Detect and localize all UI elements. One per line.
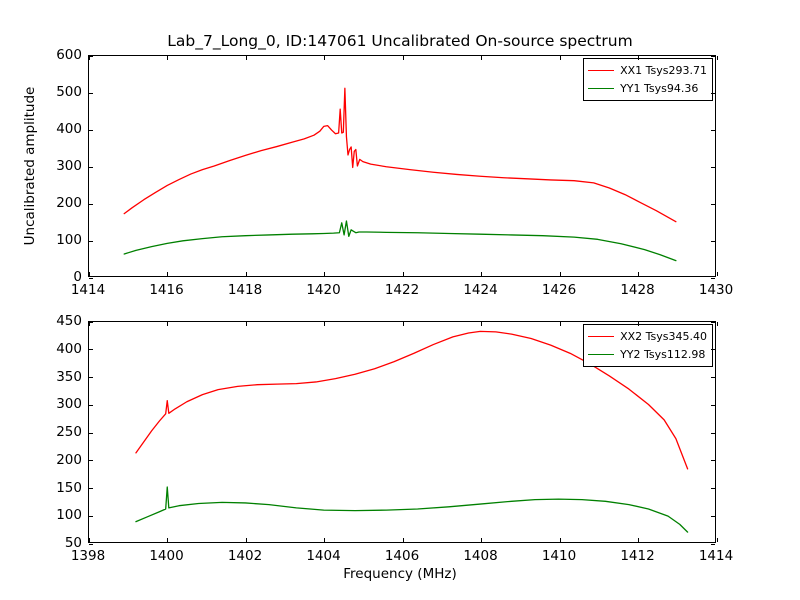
y-tick bbox=[89, 56, 93, 57]
y-tick bbox=[89, 377, 93, 378]
x-tick bbox=[89, 538, 90, 542]
x-tick bbox=[246, 538, 247, 542]
x-tick-label: 1406 bbox=[385, 548, 419, 564]
legend-label: XX2 Tsys345.40 bbox=[620, 331, 707, 342]
x-tick-label: 1426 bbox=[542, 282, 576, 298]
y-tick bbox=[89, 349, 93, 350]
y-tick-label: 600 bbox=[40, 47, 82, 63]
x-tick-label: 1418 bbox=[228, 282, 262, 298]
x-tick-label: 1412 bbox=[620, 548, 654, 564]
y-tick-label: 400 bbox=[40, 341, 82, 357]
y-tick-label: 100 bbox=[40, 507, 82, 523]
x-tick bbox=[89, 272, 90, 276]
y-tick bbox=[89, 93, 93, 94]
y-tick-label: 150 bbox=[40, 480, 82, 496]
legend-line-icon bbox=[588, 336, 614, 337]
top-panel-axes: XX1 Tsys293.71YY1 Tsys94.36 bbox=[88, 55, 716, 277]
x-tick-top bbox=[89, 56, 90, 60]
legend-line-icon bbox=[588, 354, 614, 355]
y-tick-right bbox=[711, 349, 715, 350]
bottom-panel-legend: XX2 Tsys345.40YY2 Tsys112.98 bbox=[583, 324, 713, 367]
y-tick-label: 250 bbox=[40, 424, 82, 440]
x-tick bbox=[246, 272, 247, 276]
y-tick-label: 500 bbox=[40, 84, 82, 100]
y-tick-right bbox=[711, 278, 715, 279]
legend-item: YY1 Tsys94.36 bbox=[588, 81, 707, 96]
legend-item: XX2 Tsys345.40 bbox=[588, 329, 707, 344]
y-tick bbox=[89, 488, 93, 489]
y-tick-right bbox=[711, 93, 715, 94]
y-tick bbox=[89, 130, 93, 131]
x-tick-top bbox=[324, 56, 325, 60]
x-tick bbox=[560, 272, 561, 276]
x-tick bbox=[481, 538, 482, 542]
y-tick-label: 100 bbox=[40, 232, 82, 248]
y-tick-label: 300 bbox=[40, 396, 82, 412]
y-tick bbox=[89, 322, 93, 323]
bottom-panel-axes: XX2 Tsys345.40YY2 Tsys112.98 bbox=[88, 321, 716, 543]
series-line bbox=[124, 221, 676, 261]
x-tick bbox=[403, 272, 404, 276]
x-tick-top bbox=[246, 322, 247, 326]
y-tick-right bbox=[711, 544, 715, 545]
y-tick bbox=[89, 204, 93, 205]
y-tick bbox=[89, 167, 93, 168]
y-tick bbox=[89, 433, 93, 434]
x-tick-top bbox=[717, 322, 718, 326]
y-tick-right bbox=[711, 377, 715, 378]
x-tick-top bbox=[246, 56, 247, 60]
y-tick bbox=[89, 405, 93, 406]
y-tick-right bbox=[711, 241, 715, 242]
x-tick-top bbox=[481, 322, 482, 326]
y-tick bbox=[89, 460, 93, 461]
y-tick-label: 200 bbox=[40, 452, 82, 468]
x-tick bbox=[717, 272, 718, 276]
y-tick-right bbox=[711, 56, 715, 57]
legend-label: YY2 Tsys112.98 bbox=[620, 349, 705, 360]
top-panel-legend: XX1 Tsys293.71YY1 Tsys94.36 bbox=[583, 58, 713, 101]
x-tick-label: 1424 bbox=[463, 282, 497, 298]
x-tick-top bbox=[717, 56, 718, 60]
y-tick-right bbox=[711, 167, 715, 168]
y-tick bbox=[89, 516, 93, 517]
y-tick-right bbox=[711, 405, 715, 406]
x-tick bbox=[717, 538, 718, 542]
x-tick-top bbox=[167, 56, 168, 60]
y-axis-label: Uncalibrated amplitude bbox=[22, 55, 38, 277]
y-tick-right bbox=[711, 204, 715, 205]
legend-item: XX1 Tsys293.71 bbox=[588, 63, 707, 78]
legend-line-icon bbox=[588, 88, 614, 89]
x-tick bbox=[167, 538, 168, 542]
x-tick-label: 1410 bbox=[542, 548, 576, 564]
legend-line-icon bbox=[588, 70, 614, 71]
y-tick bbox=[89, 278, 93, 279]
y-tick bbox=[89, 241, 93, 242]
y-tick-right bbox=[711, 130, 715, 131]
x-tick-label: 1400 bbox=[149, 548, 183, 564]
legend-item: YY2 Tsys112.98 bbox=[588, 347, 707, 362]
x-tick bbox=[481, 272, 482, 276]
x-tick-top bbox=[560, 322, 561, 326]
y-tick-label: 350 bbox=[40, 369, 82, 385]
y-tick-label: 450 bbox=[40, 313, 82, 329]
y-tick-label: 200 bbox=[40, 195, 82, 211]
x-tick-label: 1430 bbox=[699, 282, 733, 298]
x-tick-top bbox=[638, 56, 639, 60]
y-tick-label: 300 bbox=[40, 158, 82, 174]
legend-label: YY1 Tsys94.36 bbox=[620, 83, 698, 94]
y-tick-right bbox=[711, 460, 715, 461]
y-tick-label: 0 bbox=[40, 269, 82, 285]
x-tick-label: 1416 bbox=[149, 282, 183, 298]
y-tick-label: 400 bbox=[40, 121, 82, 137]
legend-label: XX1 Tsys293.71 bbox=[620, 65, 707, 76]
series-line bbox=[124, 88, 676, 221]
x-tick-label: 1414 bbox=[699, 548, 733, 564]
x-tick-label: 1408 bbox=[463, 548, 497, 564]
spectrum-figure: Lab_7_Long_0, ID:147061 Uncalibrated On-… bbox=[0, 0, 800, 600]
x-tick-top bbox=[638, 322, 639, 326]
x-tick-label: 1404 bbox=[306, 548, 340, 564]
x-tick-label: 1428 bbox=[620, 282, 654, 298]
x-tick-top bbox=[403, 322, 404, 326]
x-tick-top bbox=[89, 322, 90, 326]
x-tick-top bbox=[560, 56, 561, 60]
x-tick bbox=[638, 272, 639, 276]
x-tick bbox=[403, 538, 404, 542]
y-tick bbox=[89, 544, 93, 545]
x-tick bbox=[324, 272, 325, 276]
y-tick-right bbox=[711, 322, 715, 323]
y-tick-label: 50 bbox=[40, 535, 82, 551]
x-tick bbox=[167, 272, 168, 276]
x-tick-top bbox=[481, 56, 482, 60]
x-tick bbox=[560, 538, 561, 542]
series-line bbox=[136, 487, 688, 532]
x-tick-label: 1422 bbox=[385, 282, 419, 298]
y-tick-right bbox=[711, 516, 715, 517]
x-tick-top bbox=[324, 322, 325, 326]
x-tick-top bbox=[403, 56, 404, 60]
x-tick-label: 1402 bbox=[228, 548, 262, 564]
x-axis-label: Frequency (MHz) bbox=[0, 566, 800, 582]
y-tick-right bbox=[711, 488, 715, 489]
page-title: Lab_7_Long_0, ID:147061 Uncalibrated On-… bbox=[0, 32, 800, 50]
x-tick bbox=[324, 538, 325, 542]
y-tick-right bbox=[711, 433, 715, 434]
x-tick bbox=[638, 538, 639, 542]
x-tick-top bbox=[167, 322, 168, 326]
x-tick-label: 1420 bbox=[306, 282, 340, 298]
